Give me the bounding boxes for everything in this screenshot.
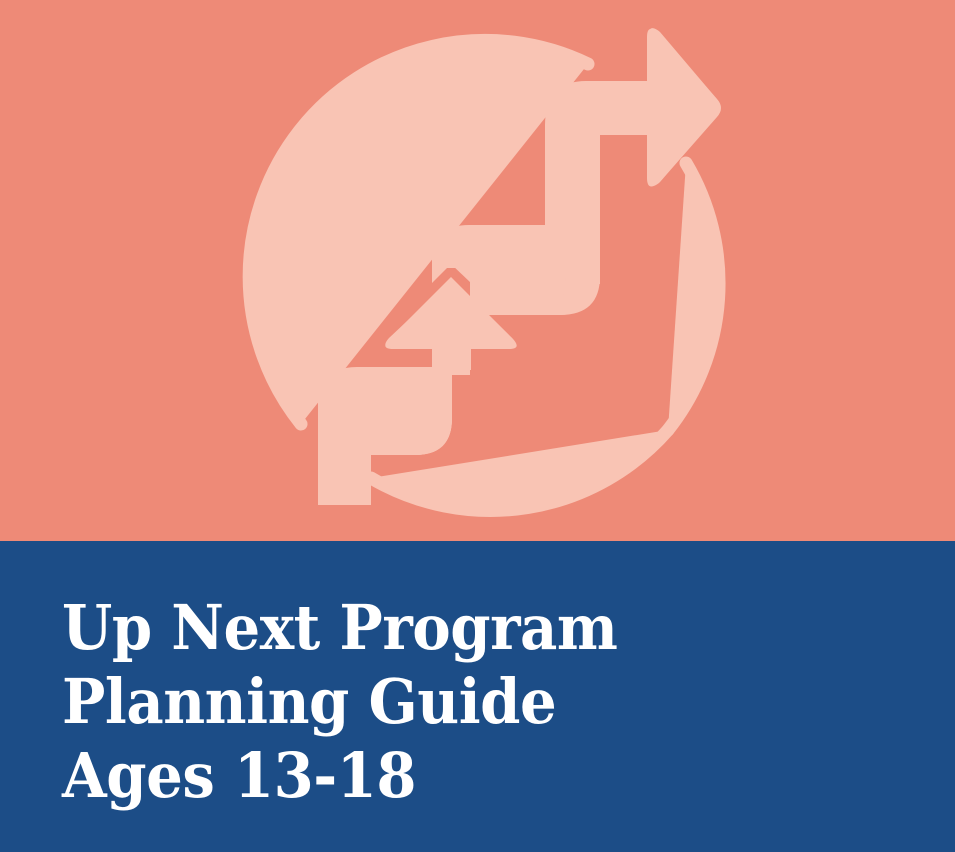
connector-column-2: [566, 124, 600, 284]
page-title: Up Next Program Planning Guide Ages 13-1…: [62, 591, 922, 813]
title-line-2: Planning Guide: [62, 665, 862, 739]
upward-staircase-arrow-in-circular-refresh-icon: [0, 0, 955, 541]
circular-arc-right: [668, 163, 719, 430]
program-guide-cover: Up Next Program Planning Guide Ages 13-1…: [0, 0, 955, 852]
title-panel: Up Next Program Planning Guide Ages 13-1…: [0, 541, 955, 852]
title-line-1: Up Next Program: [62, 591, 862, 665]
title-line-3: Ages 13-18: [62, 739, 862, 813]
hero-panel: [0, 0, 955, 541]
